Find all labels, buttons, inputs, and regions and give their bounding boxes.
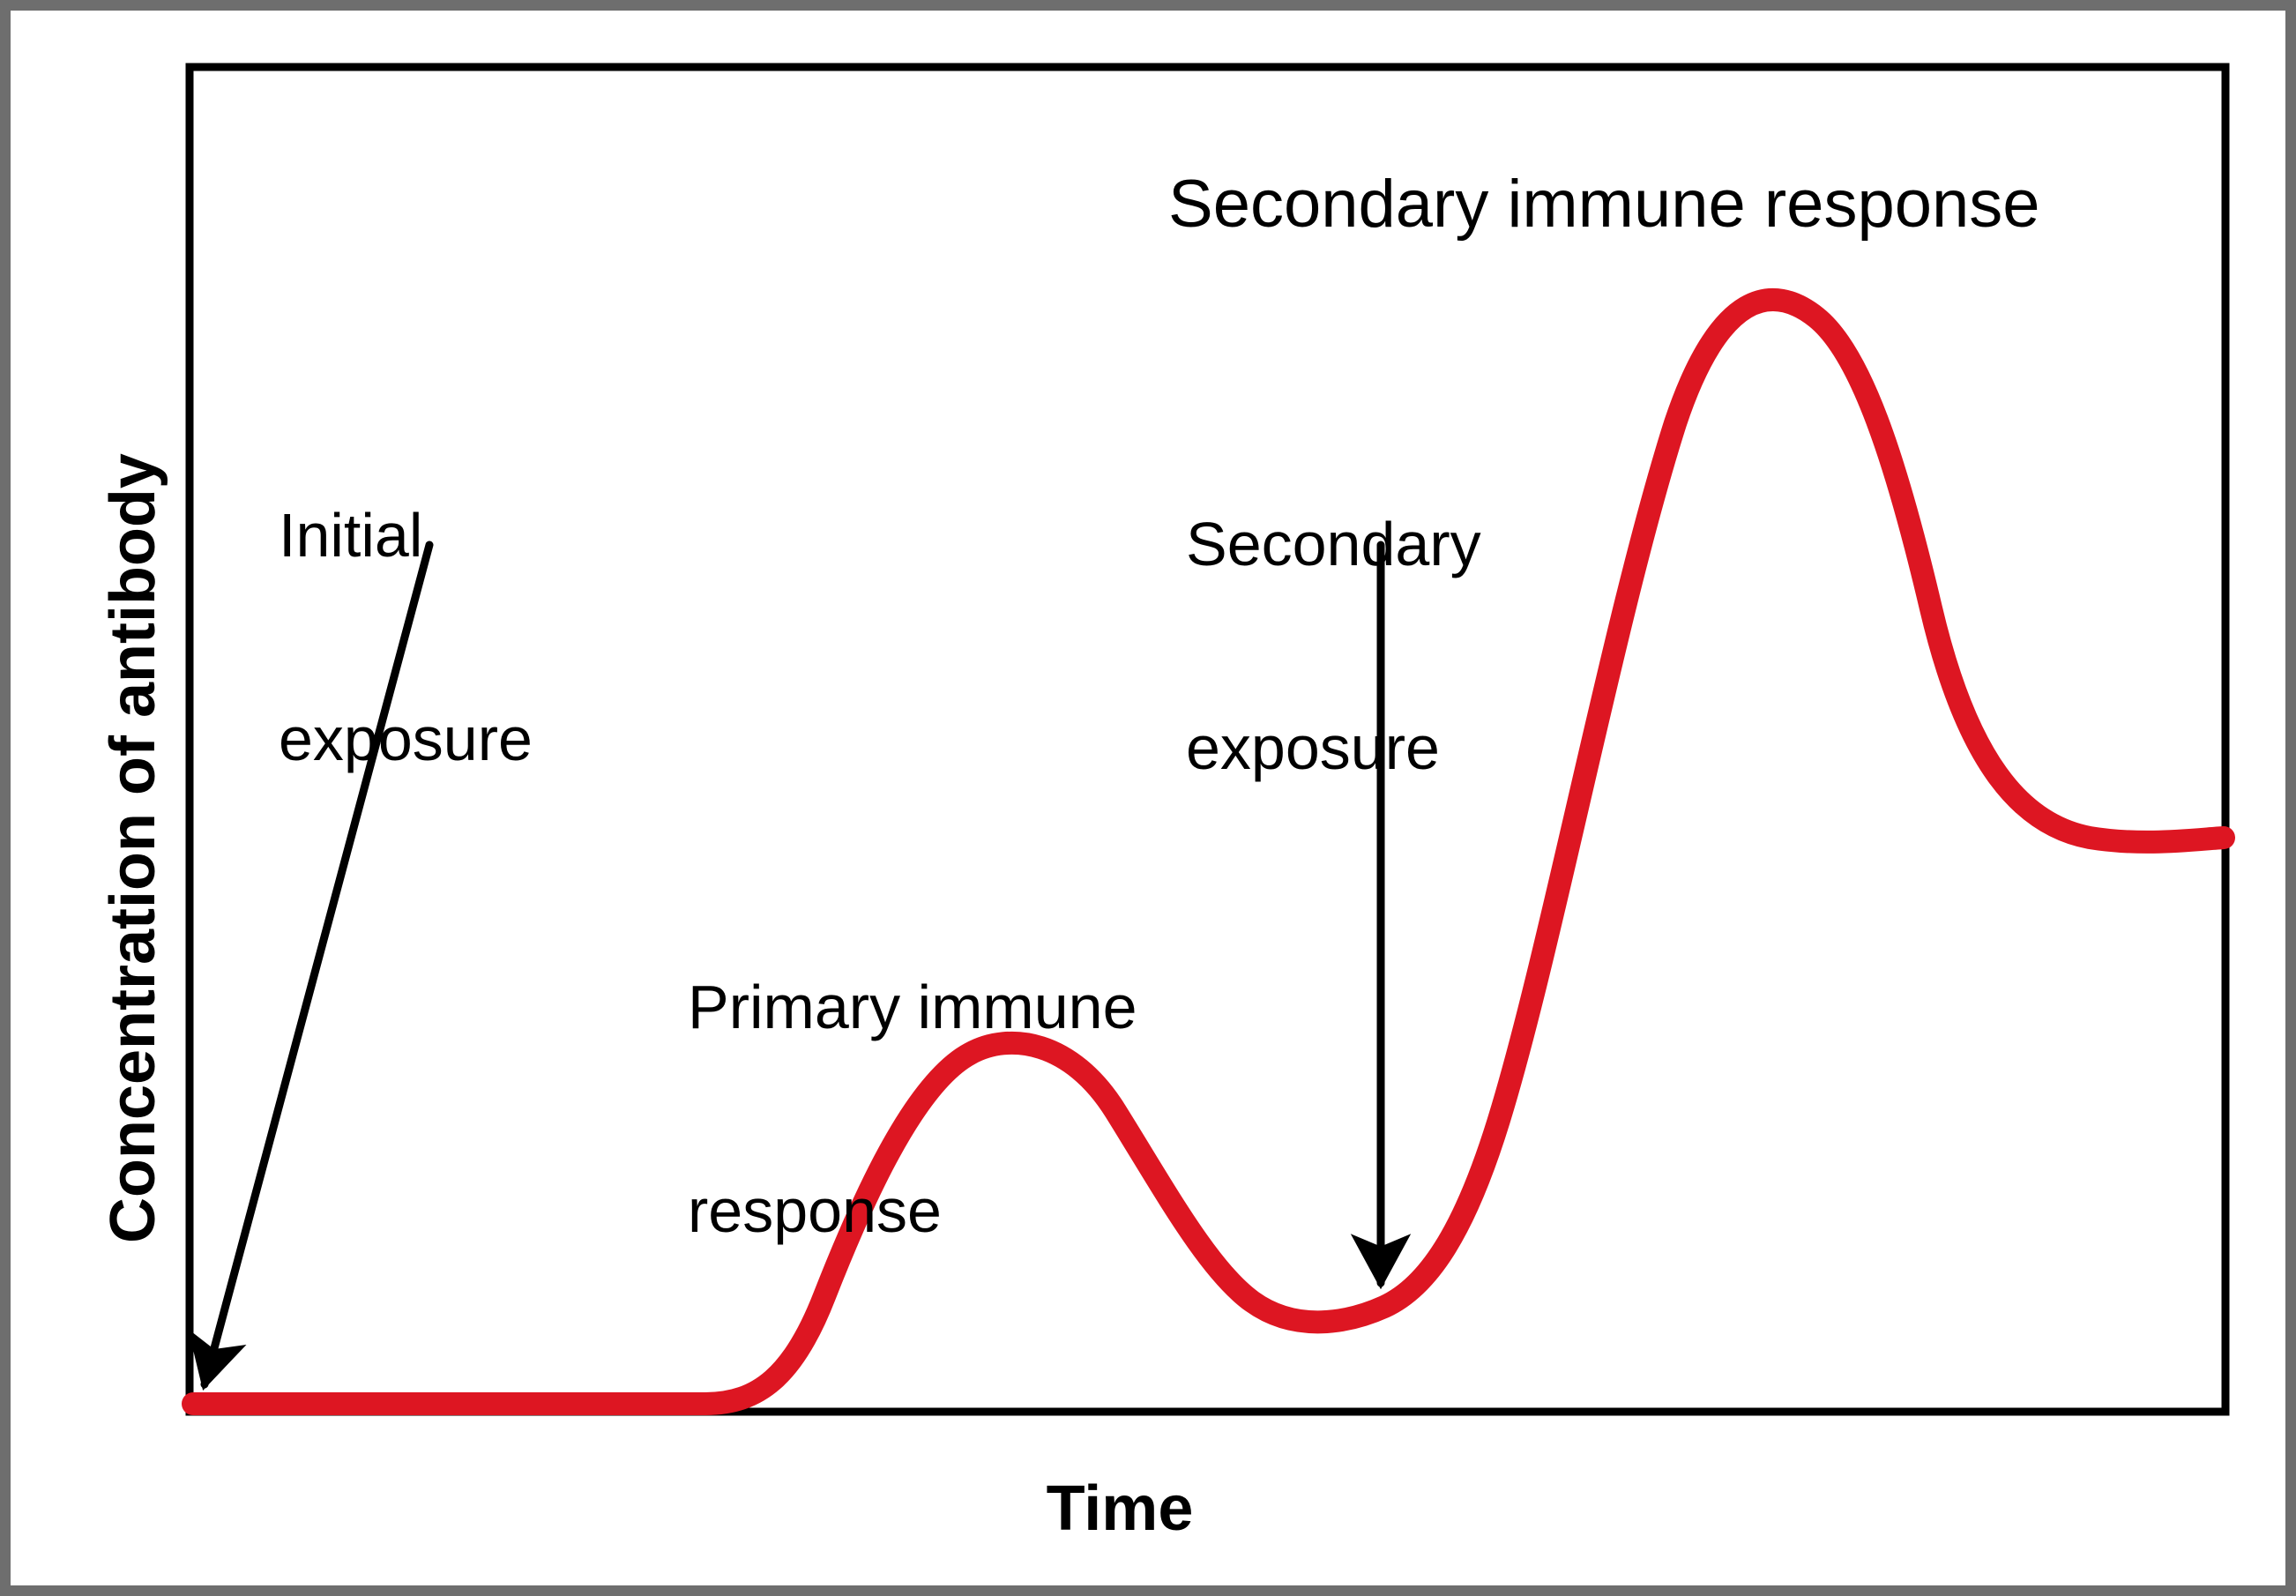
annotation-primary-immune-response-line1: Primary immune	[688, 973, 1137, 1041]
annotation-initial-exposure-line1: Initial	[279, 502, 533, 570]
annotation-secondary-immune-response: Secondary immune response	[1168, 168, 2040, 242]
annotation-initial-exposure: Initial exposure	[279, 366, 533, 909]
y-axis-title: Concentration of antibody	[99, 453, 168, 1243]
annotation-secondary-exposure-line2: exposure	[1186, 714, 1481, 782]
annotation-secondary-exposure-line1: Secondary	[1186, 511, 1481, 578]
annotation-primary-immune-response-line2: response	[688, 1177, 1137, 1245]
annotation-initial-exposure-line2: exposure	[279, 705, 533, 773]
x-axis-title: Time	[1047, 1474, 1194, 1544]
annotation-secondary-exposure: Secondary exposure	[1186, 375, 1481, 918]
figure-root: Concentration of antibody Time Initial e…	[0, 0, 2296, 1596]
annotation-primary-immune-response: Primary immune response	[688, 838, 1137, 1381]
